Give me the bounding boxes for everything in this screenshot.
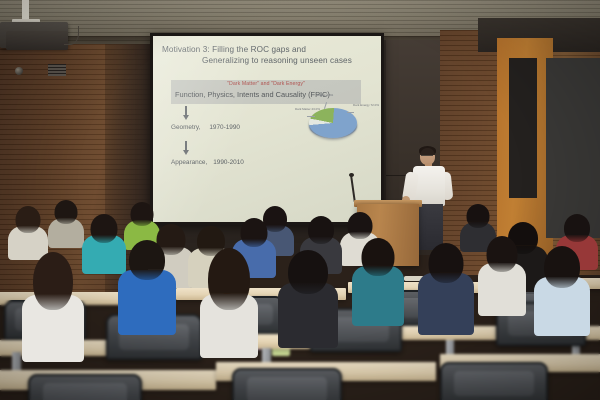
audience-member (534, 246, 590, 336)
audience-member-head (55, 200, 78, 224)
chair (232, 368, 342, 400)
audience-member-head (129, 240, 165, 280)
lecture-hall-photo: Motivation 3: Filling the ROC gaps and G… (0, 0, 600, 400)
audience-member (352, 238, 404, 326)
chair (28, 374, 142, 400)
audience-member-head (544, 246, 580, 288)
green-notepad (272, 348, 290, 356)
audience-member-head (288, 250, 328, 294)
audience-member-head (308, 216, 334, 244)
audience-member (22, 252, 84, 362)
audience-member-head (564, 214, 590, 242)
audience-member (478, 236, 526, 316)
audience-member-head (362, 238, 395, 276)
audience-member-head (16, 206, 41, 233)
audience-member-head (487, 236, 518, 272)
audience-member-head (467, 204, 490, 228)
audience-member (418, 243, 474, 335)
audience-member (48, 200, 84, 248)
audience-member-head (33, 252, 73, 310)
audience-member-head (131, 202, 154, 226)
audience-member-head (348, 212, 373, 239)
audience-member (278, 250, 338, 348)
audience-member-head (241, 218, 268, 247)
audience-member-head (429, 243, 464, 283)
audience-member (118, 240, 176, 335)
audience-member (200, 248, 258, 358)
audience-member-head (91, 214, 118, 243)
chair (440, 362, 548, 400)
audience-member-head (208, 248, 250, 310)
